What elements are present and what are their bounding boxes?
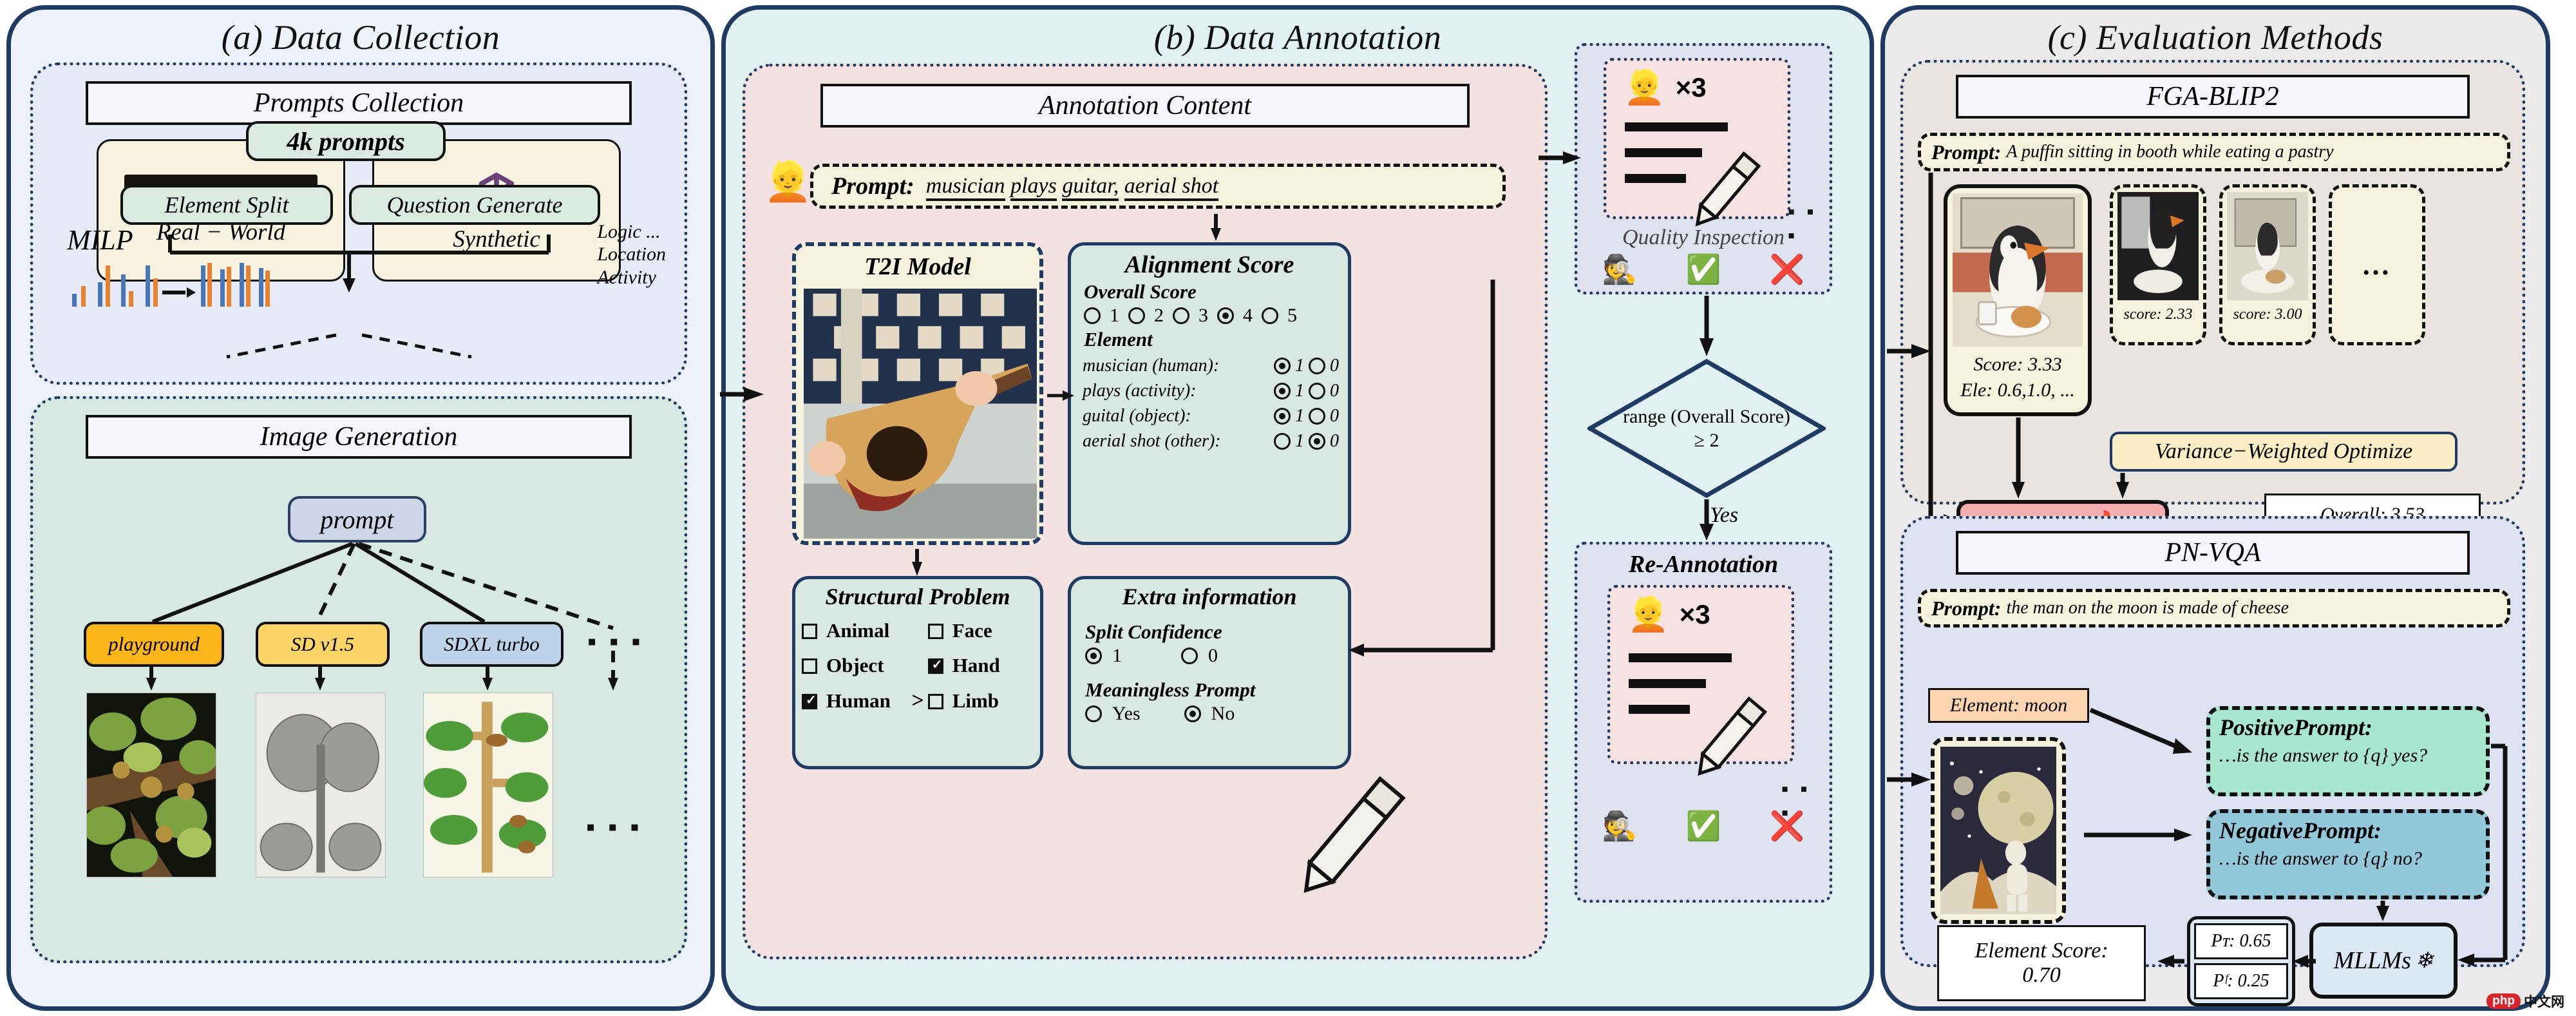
split-confidence-radio-0[interactable]	[1181, 647, 1198, 664]
re-annotator-count: ×3	[1680, 599, 1710, 630]
fga-blip2-heading: FGA-BLIP2	[1956, 75, 2470, 119]
models-ellipsis: ▪ ▪ ▪	[587, 626, 644, 657]
pnvqa-prompt-label: Prompt:	[1931, 597, 2001, 620]
inspector-icon: 🕵	[1602, 253, 1638, 286]
image-generation-box: Image Generation prompt	[30, 396, 687, 963]
fga-alt-ellipsis: …	[2362, 249, 2392, 282]
image-generation-heading: Image Generation	[86, 415, 632, 459]
element-radio-aerial-0[interactable]	[1309, 433, 1325, 450]
element-name-guital: guital (object):	[1083, 406, 1274, 427]
overall-radio-4[interactable]	[1217, 307, 1234, 324]
overall-score-label: Overall Score	[1084, 280, 1339, 303]
meaningless-radio-no[interactable]	[1184, 705, 1201, 722]
element-radio-plays-0[interactable]	[1309, 383, 1325, 399]
milp-bar-icon	[67, 256, 279, 307]
pnvqa-prompt-text: the man on the moon is made of cheese	[2006, 598, 2289, 618]
model-playground: playground	[84, 622, 224, 667]
prompts-collection-box: Prompts Collection DIFFUSIONDB Real − Wo…	[30, 62, 687, 385]
prompt-token-3: guitar,	[1062, 174, 1119, 201]
element-radio-guital-0[interactable]	[1309, 408, 1325, 425]
meaningless-prompt-label: Meaningless Prompt	[1085, 678, 1338, 702]
element-opt-musician-0: 0	[1330, 356, 1339, 376]
thumbnail-sd15	[256, 693, 386, 877]
pnvqa-element-tag: Element: moon	[1928, 688, 2089, 723]
attribute-activity: Activity	[597, 266, 666, 289]
panel-data-collection: (a) Data Collection Prompts Collection D…	[6, 5, 715, 1011]
pn-vqa-heading: PN-VQA	[1956, 531, 2470, 575]
pn-vqa-box: PN-VQA Prompt: the man on the moon is ma…	[1900, 516, 2525, 967]
overall-opt-3: 3	[1198, 305, 1208, 327]
fga-alt-ellipsis-card: …	[2329, 184, 2425, 345]
quality-inspection-label: Quality Inspection	[1578, 225, 1829, 250]
prompt-label: Prompt:	[831, 172, 914, 200]
fga-main-score: Score: 3.33	[1953, 354, 2083, 376]
split-confidence-radio-1[interactable]	[1085, 647, 1102, 664]
overall-radio-1[interactable]	[1084, 307, 1101, 324]
overall-score-options[interactable]: 1 2 3 4 5	[1084, 305, 1339, 327]
fga-alt-image-1: score: 2.33	[2110, 184, 2206, 345]
overall-opt-1: 1	[1110, 305, 1119, 327]
label-object: Object	[826, 654, 884, 676]
decision-line-1: range (Overall Score)	[1623, 405, 1790, 429]
negative-prompt-card: NegativePrompt: …is the answer to {q} no…	[2206, 809, 2490, 899]
decision-branch-label: Yes	[1710, 503, 1738, 528]
meaningless-prompt-options[interactable]: Yes No	[1085, 703, 1338, 725]
t2i-model-card: T2I Model	[792, 242, 1043, 545]
pencil-icon	[1295, 779, 1403, 899]
fga-prompt-text: A puffin sitting in booth while eating a…	[2006, 142, 2333, 162]
element-radio-plays-1[interactable]	[1274, 383, 1291, 399]
fga-main-image-card: Score: 3.33 Ele: 0.6,1.0, ...	[1944, 184, 2092, 416]
watermark: php 中文网	[2486, 992, 2564, 1011]
annotator-icon: 👱	[764, 162, 812, 201]
split-confidence-label: Split Confidence	[1085, 620, 1338, 644]
attribute-list: Logic ... Location Activity	[597, 220, 666, 289]
fga-alt-score-1: score: 2.33	[2117, 306, 2199, 323]
annotation-content-box: Annotation Content 👱 Prompt: musician pl…	[743, 64, 1548, 959]
quality-workflow-column: 👱 ×3 ▪ ▪ ▪ Quality Inspection	[1575, 26, 1845, 954]
check-mark-green-icon: ✅	[1686, 253, 1721, 286]
annotation-content-heading: Annotation Content	[820, 84, 1470, 128]
prompt-token-4: aerial shot	[1124, 174, 1218, 201]
prompts-node: 4k prompts	[246, 121, 446, 161]
element-name-plays: plays (activity):	[1083, 381, 1274, 401]
element-row-musician: musician (human): 10	[1083, 356, 1339, 376]
source-label-synthetic: Synthetic	[453, 225, 540, 253]
label-human: Human	[826, 689, 891, 712]
annotator-icon: 👱	[1627, 595, 1669, 634]
puffin-alt-photo	[2117, 192, 2199, 300]
fga-alt-score-2: score: 3.00	[2227, 306, 2308, 323]
pnvqa-image-card	[1931, 737, 2066, 924]
pencil-icon	[1735, 700, 1825, 783]
negative-prompt-text: …is the answer to {q} no?	[2219, 848, 2477, 870]
meaningless-radio-yes[interactable]	[1085, 705, 1102, 722]
element-score-value: 0.70	[2022, 963, 2061, 988]
model-sd15: SD v1.5	[256, 622, 390, 667]
meaningless-opt-yes: Yes	[1112, 703, 1141, 725]
t2i-model-title: T2I Model	[796, 246, 1039, 281]
element-name-musician: musician (human):	[1083, 356, 1274, 376]
decision-line-2: ≥ 2	[1694, 428, 1719, 453]
thumbnail-sdxl-turbo	[423, 693, 553, 877]
element-opt-musician-1: 1	[1295, 356, 1304, 376]
element-opt-aerial-1: 1	[1295, 431, 1304, 452]
checkbox-hand[interactable]	[928, 658, 943, 674]
label-face: Face	[952, 619, 992, 642]
panel-a-title: (a) Data Collection	[11, 10, 710, 57]
re-annotation-icons: 🕵 ✅ ❌	[1578, 809, 1829, 843]
fga-main-ele: Ele: 0.6,1.0, ...	[1953, 379, 2083, 401]
element-split-node: Element Split	[120, 185, 333, 225]
element-opt-guital-1: 1	[1295, 406, 1304, 427]
re-annotation-title: Re-Annotation	[1578, 545, 1829, 579]
alignment-score-title: Alignment Score	[1080, 251, 1339, 279]
panel-c-title: (c) Evaluation Methods	[1885, 10, 2546, 57]
re-annotation-box: Re-Annotation 👱 ×3	[1575, 542, 1832, 903]
structural-item-limb[interactable]: Limb	[928, 689, 1034, 713]
moon-astronaut-photo	[1940, 747, 2056, 914]
checkbox-human[interactable]	[802, 694, 817, 709]
annotator-icon: 👱	[1624, 68, 1665, 107]
prompt-token-2: plays	[1010, 174, 1057, 201]
checkbox-limb[interactable]	[928, 694, 943, 709]
element-row-guital: guital (object): 10	[1083, 406, 1339, 427]
attribute-location: Location	[597, 243, 666, 265]
structural-item-human[interactable]: Human	[802, 689, 907, 713]
pnvqa-prompt: Prompt: the man on the moon is made of c…	[1918, 589, 2510, 628]
mllms-label: MLLMs	[2334, 946, 2411, 975]
inspector-icon: 🕵	[1602, 809, 1638, 843]
negative-prompt-title: NegativePrompt:	[2219, 817, 2477, 844]
panel-evaluation-methods: (c) Evaluation Methods FGA-BLIP2 Prompt:…	[1880, 5, 2550, 1011]
overall-opt-5: 5	[1287, 305, 1297, 327]
quality-inspection-icons: 🕵 ✅ ❌	[1578, 253, 1829, 286]
meaningless-opt-no: No	[1211, 703, 1235, 725]
positive-prompt-card: PositivePrompt: …is the answer to {q} ye…	[2206, 706, 2490, 796]
question-generate-node: Question Generate	[349, 185, 600, 225]
annotation-prompt: Prompt: musician plays guitar, aerial sh…	[810, 164, 1506, 209]
structural-item-object[interactable]: Object	[802, 654, 907, 677]
positive-prompt-text: …is the answer to {q} yes?	[2219, 745, 2477, 767]
watermark-badge: php	[2486, 993, 2521, 1009]
cross-mark-red-icon: ❌	[1770, 809, 1805, 843]
overall-radio-2[interactable]	[1128, 307, 1145, 324]
element-opt-guital-0: 0	[1330, 406, 1339, 427]
overall-opt-4: 4	[1243, 305, 1253, 327]
annotator-count: ×3	[1676, 72, 1707, 103]
overall-radio-5[interactable]	[1262, 307, 1278, 324]
panel-data-annotation: (b) Data Annotation Annotation Content 👱…	[721, 5, 1874, 1011]
prompt-token-1: musician	[926, 174, 1005, 201]
element-opt-plays-1: 1	[1295, 381, 1304, 401]
element-score-box: Element Score: 0.70	[1937, 925, 2146, 1001]
element-row-aerial-shot: aerial shot (other): 10	[1083, 431, 1339, 452]
fga-prompt-label: Prompt:	[1931, 140, 2001, 164]
prob-true: Pᴛ: 0.65	[2194, 923, 2288, 959]
structural-problem-title: Structural Problem	[802, 583, 1034, 610]
probability-box: Pᴛ: 0.65 Pᶠ: 0.25	[2187, 916, 2295, 1006]
label-hand: Hand	[952, 654, 1000, 676]
snowflake-icon: ❄	[2415, 948, 2434, 973]
element-opt-plays-0: 0	[1330, 381, 1339, 401]
overall-opt-2: 2	[1154, 305, 1164, 327]
element-score-label: Element Score:	[1975, 939, 2108, 963]
variance-weighted-optimize: Variance−Weighted Optimize	[2110, 432, 2458, 472]
guitar-photo	[804, 289, 1037, 539]
structural-separator: >	[907, 689, 927, 713]
split-confidence-opt-1: 1	[1112, 645, 1122, 667]
split-confidence-opt-0: 0	[1208, 645, 1218, 667]
positive-prompt-title: PositivePrompt:	[2219, 714, 2477, 741]
structural-problem-card: Structural Problem Animal Face Object Ha…	[792, 576, 1043, 769]
element-opt-aerial-0: 0	[1330, 431, 1339, 452]
mllms-node: MLLMs ❄	[2309, 923, 2458, 999]
checkbox-animal[interactable]	[802, 624, 817, 639]
attribute-logic: Logic ...	[597, 220, 666, 243]
quality-inspection-box: 👱 ×3 ▪ ▪ ▪ Quality Inspection	[1575, 43, 1832, 294]
label-limb: Limb	[952, 689, 999, 712]
structural-item-face[interactable]: Face	[928, 619, 1034, 642]
puffin-alt-photo	[2227, 192, 2308, 300]
structural-checkbox-grid: Animal Face Object Hand Human > Limb	[802, 619, 1034, 713]
puffin-photo	[1953, 193, 2083, 347]
checkbox-face[interactable]	[928, 624, 943, 639]
thumbnails-ellipsis: ▪ ▪ ▪	[586, 812, 643, 842]
prompt-node: prompt	[288, 496, 426, 542]
watermark-text: 中文网	[2524, 992, 2564, 1011]
label-animal: Animal	[826, 619, 889, 642]
element-label: Element	[1084, 328, 1339, 351]
element-name-aerial-shot: aerial shot (other):	[1083, 431, 1274, 452]
element-radio-musician-1[interactable]	[1274, 358, 1291, 374]
extra-information-title: Extra information	[1081, 583, 1338, 610]
fga-blip2-box: FGA-BLIP2 Prompt: A puffin sitting in bo…	[1900, 60, 2525, 504]
prob-false: Pᶠ: 0.25	[2194, 963, 2288, 999]
milp-group: MILP	[67, 224, 279, 307]
model-sdxl-turbo: SDXL turbo	[420, 622, 563, 667]
milp-label: MILP	[67, 224, 279, 256]
fga-prompt: Prompt: A puffin sitting in booth while …	[1918, 133, 2510, 171]
element-row-plays: plays (activity): 10	[1083, 381, 1339, 401]
alignment-score-card: Alignment Score Overall Score 1 2 3 4 5 …	[1068, 242, 1351, 545]
split-confidence-options[interactable]: 1 0	[1085, 645, 1338, 667]
structural-item-animal[interactable]: Animal	[802, 619, 907, 642]
fga-alt-image-2: score: 3.00	[2219, 184, 2316, 345]
overall-radio-3[interactable]	[1173, 307, 1189, 324]
decision-diamond: range (Overall Score) ≥ 2	[1587, 359, 1826, 498]
check-mark-green-icon: ✅	[1686, 809, 1721, 843]
element-radio-guital-1[interactable]	[1274, 408, 1291, 425]
structural-item-hand[interactable]: Hand	[928, 654, 1034, 677]
element-radio-aerial-1[interactable]	[1274, 433, 1291, 450]
checkbox-object[interactable]	[802, 658, 817, 674]
figure-root: (a) Data Collection Prompts Collection D…	[0, 0, 2576, 1016]
prompts-collection-heading: Prompts Collection	[86, 81, 632, 125]
cross-mark-red-icon: ❌	[1770, 253, 1805, 286]
thumbnail-playground	[86, 693, 216, 877]
element-radio-musician-0[interactable]	[1309, 358, 1325, 374]
extra-information-card: Extra information Split Confidence 1 0 M…	[1068, 576, 1351, 769]
